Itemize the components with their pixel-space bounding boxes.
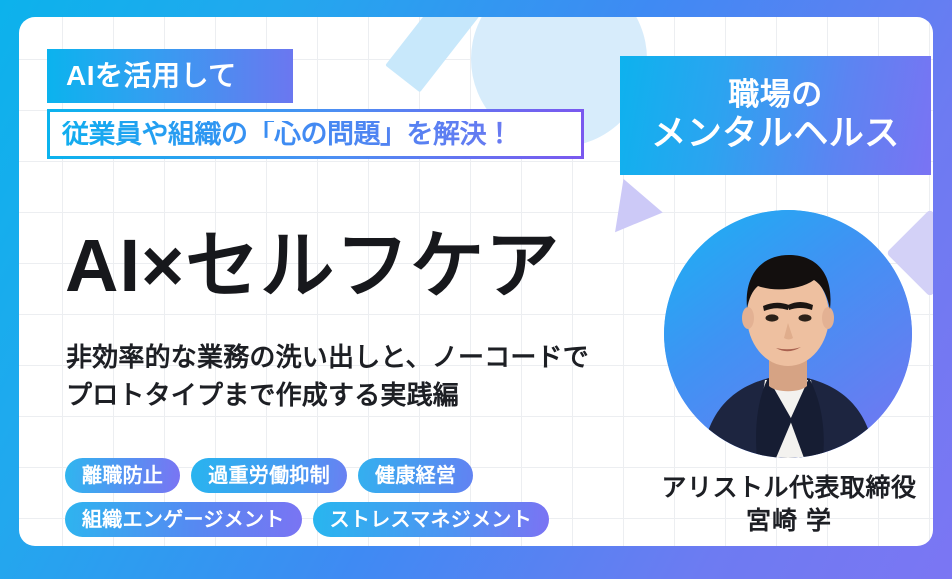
header-banner-secondary: 従業員や組織の「心の問題」を解決！ [47, 109, 584, 159]
poster-root: AIを活用して 従業員や組織の「心の問題」を解決！ 職場の メンタルヘルス AI… [0, 0, 952, 579]
topic-badge: 職場の メンタルヘルス [620, 56, 931, 175]
diagonal-bar-decoration [385, 17, 537, 92]
header-banner-primary: AIを活用して [47, 49, 293, 103]
tag-list: 離職防止 過重労働抑制 健康経営 組織エンゲージメント ストレスマネジメント [65, 458, 625, 537]
presenter-portrait-icon [664, 210, 912, 458]
avatar [664, 210, 912, 458]
page-title: AI×セルフケア [65, 229, 560, 303]
subtitle-line-1: 非効率的な業務の洗い出しと、ノーコードで [66, 339, 589, 377]
speaker-name: 宮崎 学 [644, 505, 933, 539]
poster-card: AIを活用して 従業員や組織の「心の問題」を解決！ 職場の メンタルヘルス AI… [19, 17, 933, 546]
header-banner-secondary-label: 従業員や組織の「心の問題」を解決！ [62, 121, 513, 148]
subtitle-block: 非効率的な業務の洗い出しと、ノーコードで プロトタイプまで作成する実践編 [66, 339, 589, 414]
triangle-decoration [615, 179, 667, 239]
speaker-role: アリストル代表取締役 [644, 472, 933, 505]
tag-pill[interactable]: 組織エンゲージメント [65, 502, 302, 537]
tag-pill[interactable]: ストレスマネジメント [313, 502, 549, 537]
topic-badge-line-1: 職場の [728, 77, 823, 114]
tag-pill[interactable]: 離職防止 [65, 458, 180, 493]
header-banner-primary-label: AIを活用して [66, 62, 237, 90]
tag-pill[interactable]: 健康経営 [358, 458, 473, 493]
speaker-info: アリストル代表取締役 宮崎 学 [644, 472, 933, 538]
tag-pill[interactable]: 過重労働抑制 [191, 458, 347, 493]
subtitle-line-2: プロトタイプまで作成する実践編 [66, 377, 589, 415]
topic-badge-line-2: メンタルヘルス [651, 113, 900, 154]
